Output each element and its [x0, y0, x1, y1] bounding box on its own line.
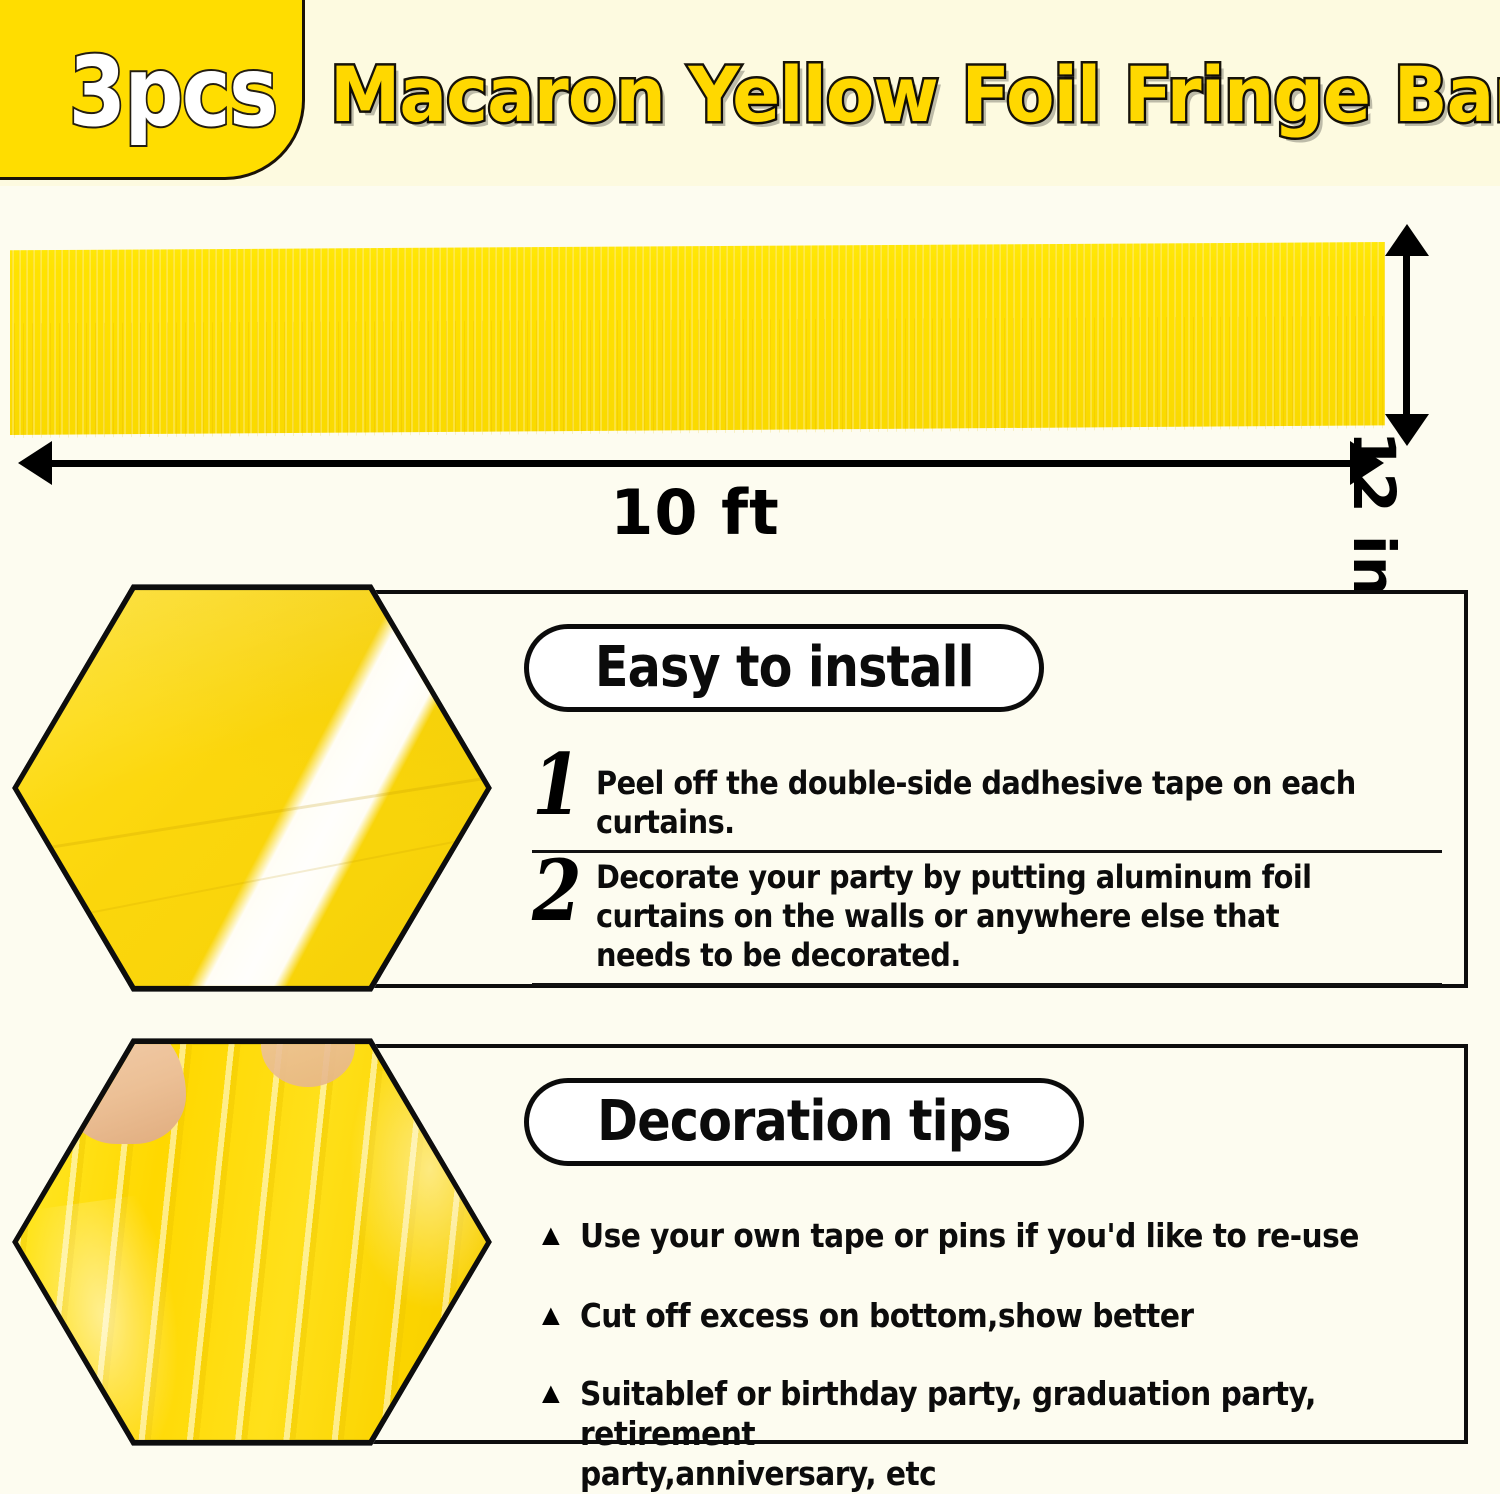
triangle-bullet-icon: ▲ [536, 1216, 566, 1256]
fringe-strand-texture [10, 316, 1385, 438]
height-dimension-line [1403, 248, 1410, 440]
decoration-tip-1: ▲ Use your own tape or pins if you'd lik… [536, 1216, 1466, 1256]
decoration-tip-2-text: Cut off excess on bottom,show better [580, 1296, 1378, 1336]
install-step-1-text: Peel off the double-side dadhesive tape … [596, 750, 1357, 842]
decoration-tip-3: ▲ Suitablef or birthday party, graduatio… [536, 1374, 1466, 1494]
header-band: 3pcs Macaron Yellow Foil Fringe Banner [0, 0, 1500, 186]
install-heading-label: Easy to install [595, 639, 974, 697]
install-step-1-number: 1 [532, 750, 582, 820]
product-dimension-stage: 12 in 10 ft [0, 186, 1500, 562]
decoration-tip-3-text: Suitablef or birthday party, graduation … [580, 1374, 1378, 1494]
tips-heading-label: Decoration tips [597, 1093, 1010, 1151]
install-step-2-text: Decorate your party by putting aluminum … [596, 856, 1357, 975]
section-easy-to-install: Easy to install 1 Peel off the double-si… [0, 578, 1500, 1000]
install-step-1: 1 Peel off the double-side dadhesive tap… [532, 750, 1442, 853]
install-step-2-number: 2 [532, 856, 582, 926]
decoration-tip-2: ▲ Cut off excess on bottom,show better [536, 1296, 1466, 1336]
tips-heading-pill: Decoration tips [524, 1078, 1084, 1166]
triangle-bullet-icon: ▲ [536, 1296, 566, 1336]
count-badge-label: 3pcs [59, 38, 287, 146]
triangle-bullet-icon: ▲ [536, 1374, 566, 1414]
install-step-2: 2 Decorate your party by putting aluminu… [532, 856, 1442, 986]
width-dimension-label: 10 ft [0, 476, 1390, 549]
page-title: Macaron Yellow Foil Fringe Banner [330, 52, 1409, 138]
section-decoration-tips: Decoration tips ▲ Use your own tape or p… [0, 1032, 1500, 1456]
arrow-up-icon [1385, 224, 1429, 256]
install-heading-pill: Easy to install [524, 624, 1044, 712]
hand-finger-shape [261, 1038, 355, 1087]
width-dimension-line [40, 460, 1362, 467]
decoration-tip-1-text: Use your own tape or pins if you'd like … [580, 1216, 1378, 1256]
